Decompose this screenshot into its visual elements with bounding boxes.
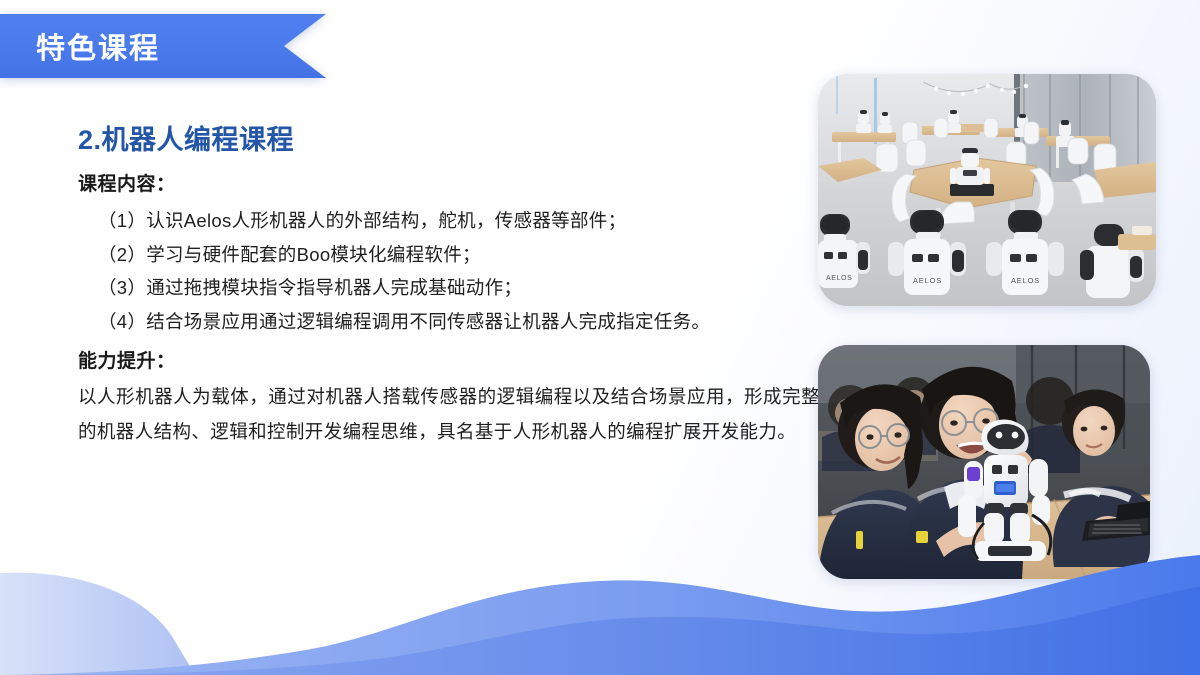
- page-title: 特色课程: [36, 14, 160, 78]
- list-item: （1）认识Aelos人形机器人的外部结构，舵机，传感器等部件；: [98, 204, 823, 238]
- students-photo-art: [818, 345, 1150, 579]
- course-content-label: 课程内容：: [78, 172, 823, 198]
- ability-uplift-label: 能力提升：: [78, 349, 823, 375]
- list-item: （2）学习与硬件配套的Boo模块化编程软件；: [98, 238, 823, 272]
- slide-root: 特色课程 2.机器人编程课程 课程内容： （1）认识Aelos人形机器人的外部结…: [0, 0, 1200, 675]
- svg-text:AELOS: AELOS: [1011, 276, 1040, 285]
- course-heading: 2.机器人编程课程: [78, 124, 823, 156]
- classroom-robots-photo: AELOS AELOS: [818, 74, 1156, 306]
- classroom-photo-art: AELOS AELOS: [818, 74, 1156, 306]
- content-column: 2.机器人编程课程 课程内容： （1）认识Aelos人形机器人的外部结构，舵机，…: [78, 124, 823, 449]
- list-item: （3）通过拖拽模块指令指导机器人完成基础动作；: [98, 271, 823, 305]
- list-item: （4）结合场景应用通过逻辑编程调用不同传感器让机器人完成指定任务。: [98, 305, 823, 339]
- header-ribbon: 特色课程: [0, 14, 326, 78]
- svg-text:AELOS: AELOS: [913, 276, 942, 285]
- students-robot-photo: [818, 345, 1150, 579]
- svg-text:AELOS: AELOS: [826, 275, 852, 282]
- course-content-list: （1）认识Aelos人形机器人的外部结构，舵机，传感器等部件； （2）学习与硬件…: [78, 204, 823, 339]
- ability-uplift-paragraph: 以人形机器人为载体，通过对机器人搭载传感器的逻辑编程以及结合场景应用，形成完整的…: [78, 380, 820, 449]
